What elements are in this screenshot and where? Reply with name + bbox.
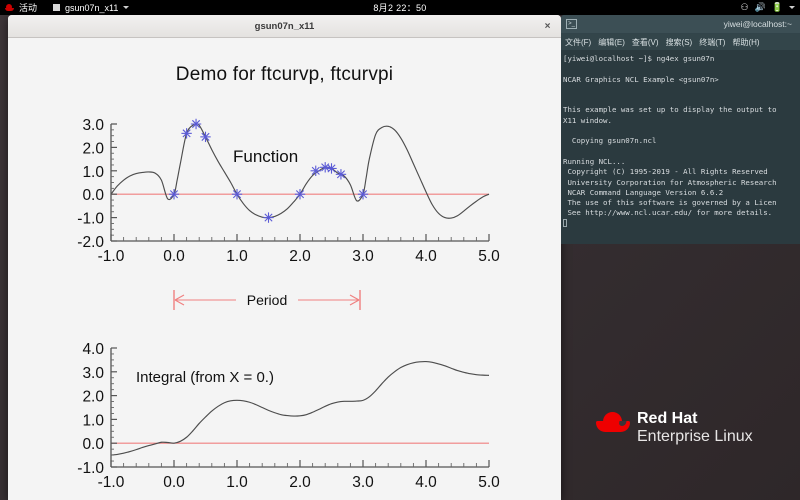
red-hat-icon	[596, 412, 630, 434]
data-point-marker	[263, 212, 273, 222]
y-tick-label: 1.0	[82, 164, 104, 181]
menu-view[interactable]: 查看(V)	[632, 37, 659, 48]
terminal-blank-line	[563, 126, 798, 136]
terminal-icon: >_	[566, 19, 577, 29]
red-hat-branding: Red Hat Enterprise Linux	[596, 410, 753, 446]
terminal-blank-line	[563, 95, 798, 105]
terminal-line: Copying gsun07n.ncl	[563, 136, 798, 146]
ncl-plot-canvas: Demo for ftcurvp, ftcurvpi -2.0-1.00.01.…	[8, 38, 561, 500]
x-tick-label: 0.0	[163, 248, 185, 265]
data-point-marker	[336, 169, 346, 179]
terminal-line: NCAR Graphics NCL Example <gsun07n>	[563, 75, 798, 85]
terminal-line: [yiwei@localhost ~]$ ng4ex gsun07n	[563, 54, 798, 64]
data-point-marker	[169, 189, 179, 199]
terminal-line: Copyright (C) 1995-2019 - All Rights Res…	[563, 167, 798, 177]
terminal-title: yiwei@localhost:~	[724, 19, 792, 29]
y-tick-label: -1.0	[77, 211, 104, 228]
integral-plot-label: Integral (from X = 0.)	[136, 369, 274, 386]
plot-background	[8, 38, 561, 500]
terminal-line: This example was set up to display the o…	[563, 105, 798, 115]
page-title: Demo for ftcurvp, ftcurvpi	[8, 64, 561, 86]
function-plot-label: Function	[233, 147, 298, 166]
close-icon[interactable]: ×	[541, 20, 554, 33]
clock[interactable]: 8月2 22：50	[0, 1, 800, 14]
data-point-marker	[200, 132, 210, 142]
x-tick-label: -1.0	[98, 474, 125, 491]
terminal-blank-line	[563, 147, 798, 157]
terminal-blank-line	[563, 85, 798, 95]
terminal-line: X11 window.	[563, 116, 798, 126]
period-label: Period	[247, 292, 287, 308]
terminal-line: University Corporation for Atmospheric R…	[563, 178, 798, 188]
data-point-marker	[232, 189, 242, 199]
terminal-menubar: 文件(F) 编辑(E) 查看(V) 搜索(S) 终端(T) 帮助(H)	[561, 34, 800, 51]
terminal-line: See http://www.ncl.ucar.edu/ for more de…	[563, 208, 798, 218]
terminal-line: Running NCL...	[563, 157, 798, 167]
brand-line-2: Enterprise Linux	[637, 427, 753, 446]
data-point-marker	[181, 128, 191, 138]
x-tick-label: 5.0	[478, 474, 500, 491]
terminal-output[interactable]: [yiwei@localhost ~]$ ng4ex gsun07n NCAR …	[561, 51, 800, 230]
y-tick-label: 2.0	[82, 389, 104, 406]
y-tick-label: 3.0	[82, 117, 104, 134]
menu-edit[interactable]: 编辑(E)	[598, 37, 625, 48]
x11-plot-window: gsun07n_x11 × Demo for ftcurvp, ftcurvpi	[8, 15, 561, 500]
data-point-marker	[191, 119, 201, 129]
terminal-titlebar[interactable]: >_ yiwei@localhost:~	[561, 15, 800, 34]
x-tick-label: 2.0	[289, 248, 311, 265]
terminal-window: >_ yiwei@localhost:~ 文件(F) 编辑(E) 查看(V) 搜…	[561, 15, 800, 244]
y-tick-label: 0.0	[82, 436, 104, 453]
network-icon[interactable]: ⚇	[740, 3, 748, 12]
x11-window-titlebar[interactable]: gsun07n_x11 ×	[8, 15, 561, 38]
data-point-marker	[358, 189, 368, 199]
x-tick-label: 3.0	[352, 248, 374, 265]
screen: 活动 gsun07n_x11 8月2 22：50 ⚇ 🔊 🔋 gsun07n_x…	[0, 0, 800, 500]
menu-file[interactable]: 文件(F)	[565, 37, 591, 48]
y-tick-label: 0.0	[82, 187, 104, 204]
x-tick-label: 5.0	[478, 248, 500, 265]
x-tick-label: 1.0	[226, 248, 248, 265]
x-tick-label: -1.0	[98, 248, 125, 265]
data-point-marker	[326, 163, 336, 173]
y-tick-label: 3.0	[82, 365, 104, 382]
x-tick-label: 1.0	[226, 474, 248, 491]
volume-icon[interactable]: 🔊	[755, 3, 766, 12]
data-point-marker	[311, 166, 321, 176]
ncl-plots-svg: -2.0-1.00.01.02.03.0-1.00.01.02.03.04.05…	[8, 38, 561, 500]
x11-window-title: gsun07n_x11	[255, 21, 315, 32]
terminal-line: The use of this software is governed by …	[563, 198, 798, 208]
y-tick-label: 4.0	[82, 341, 104, 358]
gnome-top-bar: 活动 gsun07n_x11 8月2 22：50 ⚇ 🔊 🔋	[0, 0, 800, 15]
x-tick-label: 0.0	[163, 474, 185, 491]
x-tick-label: 2.0	[289, 474, 311, 491]
x-tick-label: 4.0	[415, 248, 437, 265]
terminal-line: NCAR Command Language Version 6.6.2	[563, 188, 798, 198]
data-point-marker	[295, 189, 305, 199]
menu-terminal[interactable]: 终端(T)	[699, 37, 725, 48]
x-tick-label: 3.0	[352, 474, 374, 491]
menu-help[interactable]: 帮助(H)	[732, 37, 759, 48]
battery-icon[interactable]: 🔋	[772, 3, 783, 12]
menu-search[interactable]: 搜索(S)	[666, 37, 693, 48]
x-tick-label: 4.0	[415, 474, 437, 491]
y-tick-label: 1.0	[82, 412, 104, 429]
terminal-cursor	[563, 219, 798, 230]
y-tick-label: 2.0	[82, 140, 104, 157]
terminal-blank-line	[563, 64, 798, 74]
system-menu-chevron-down-icon[interactable]	[789, 6, 795, 9]
brand-line-1: Red Hat	[637, 410, 753, 427]
